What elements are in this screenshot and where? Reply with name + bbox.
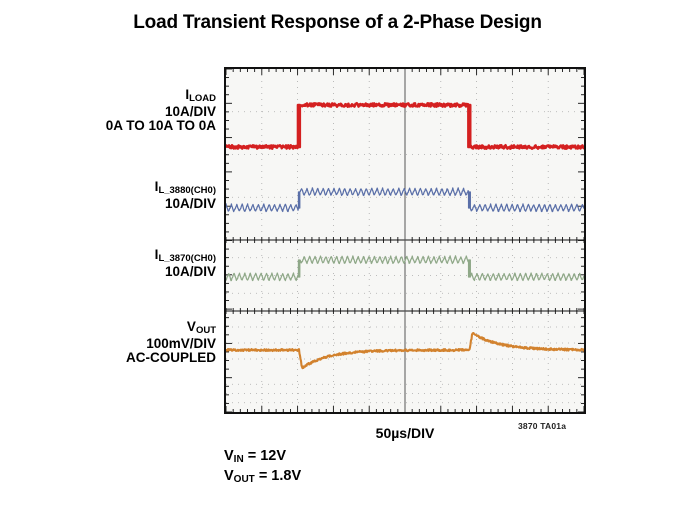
channel-label-iload: ILOAD 10A/DIV 0A TO 10A TO 0A <box>106 88 216 134</box>
condition-vin: VIN = 12V <box>224 447 301 467</box>
channel-scale-il3870: 10A/DIV <box>155 265 216 280</box>
channel-name-il3880: IL_3880(CH0) <box>155 180 216 197</box>
test-conditions: VIN = 12V VOUT = 1.8V <box>224 447 301 487</box>
channel-name-il3870: IL_3870(CH0) <box>155 248 216 265</box>
channel-note-vout: AC-COUPLED <box>126 351 216 366</box>
channel-name-iload: ILOAD <box>106 88 216 105</box>
channel-note-iload: 0A TO 10A TO 0A <box>106 119 216 134</box>
condition-vout: VOUT = 1.8V <box>224 467 301 487</box>
page-title: Load Transient Response of a 2-Phase Des… <box>0 12 675 34</box>
channel-scale-il3880: 10A/DIV <box>155 197 216 212</box>
channel-label-vout: VOUT 100mV/DIV AC-COUPLED <box>126 320 216 366</box>
part-number-tag: 3870 TA01a <box>518 421 566 431</box>
channel-label-il3880: IL_3880(CH0) 10A/DIV <box>155 180 216 211</box>
channel-scale-iload: 10A/DIV <box>106 105 216 120</box>
waveform-traces <box>226 69 584 412</box>
oscilloscope-graticule <box>224 67 586 414</box>
channel-scale-vout: 100mV/DIV <box>126 337 216 352</box>
channel-name-vout: VOUT <box>126 320 216 337</box>
channel-label-il3870: IL_3870(CH0) 10A/DIV <box>155 248 216 279</box>
